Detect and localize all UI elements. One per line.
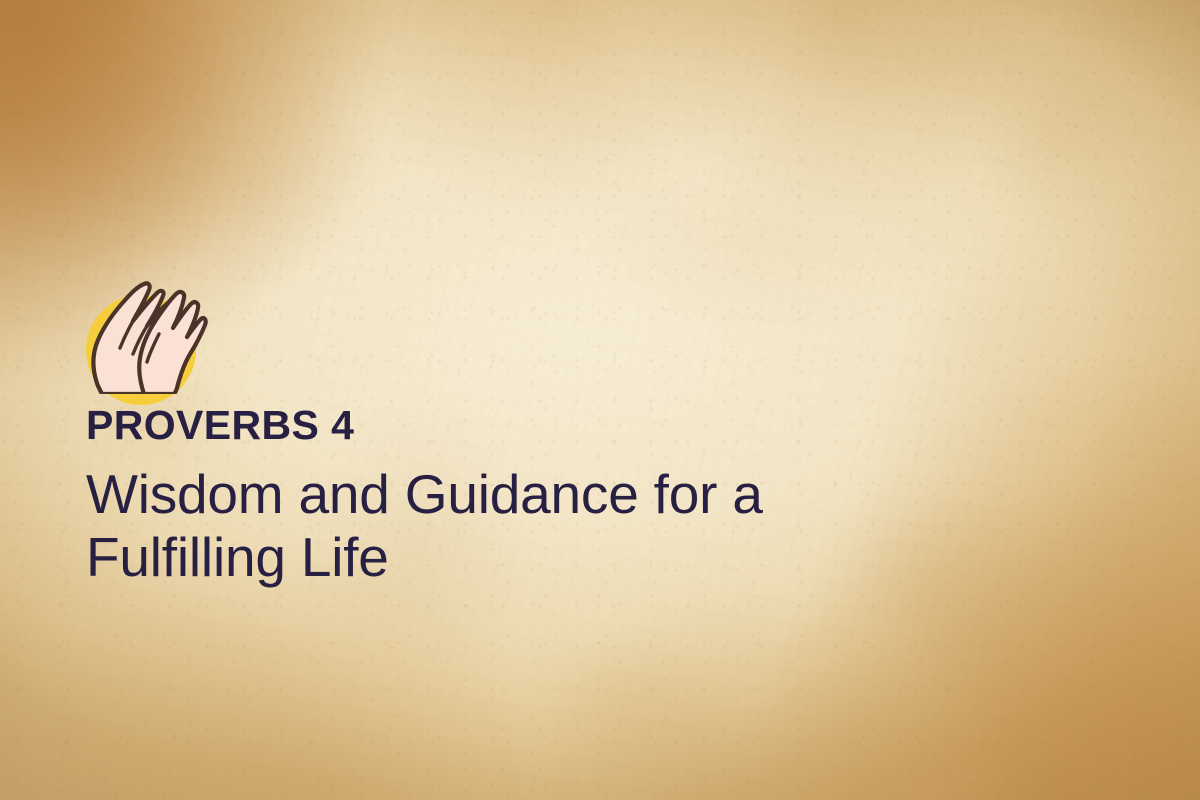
icon-badge — [86, 258, 206, 390]
poster-canvas: PROVERBS 4 Wisdom and Guidance for a Ful… — [0, 0, 1200, 800]
page-title: PROVERBS 4 — [86, 404, 966, 447]
poster-content: PROVERBS 4 Wisdom and Guidance for a Ful… — [86, 258, 966, 588]
page-subtitle: Wisdom and Guidance for a Fulfilling Lif… — [86, 463, 946, 588]
praying-hands-icon — [84, 258, 208, 394]
